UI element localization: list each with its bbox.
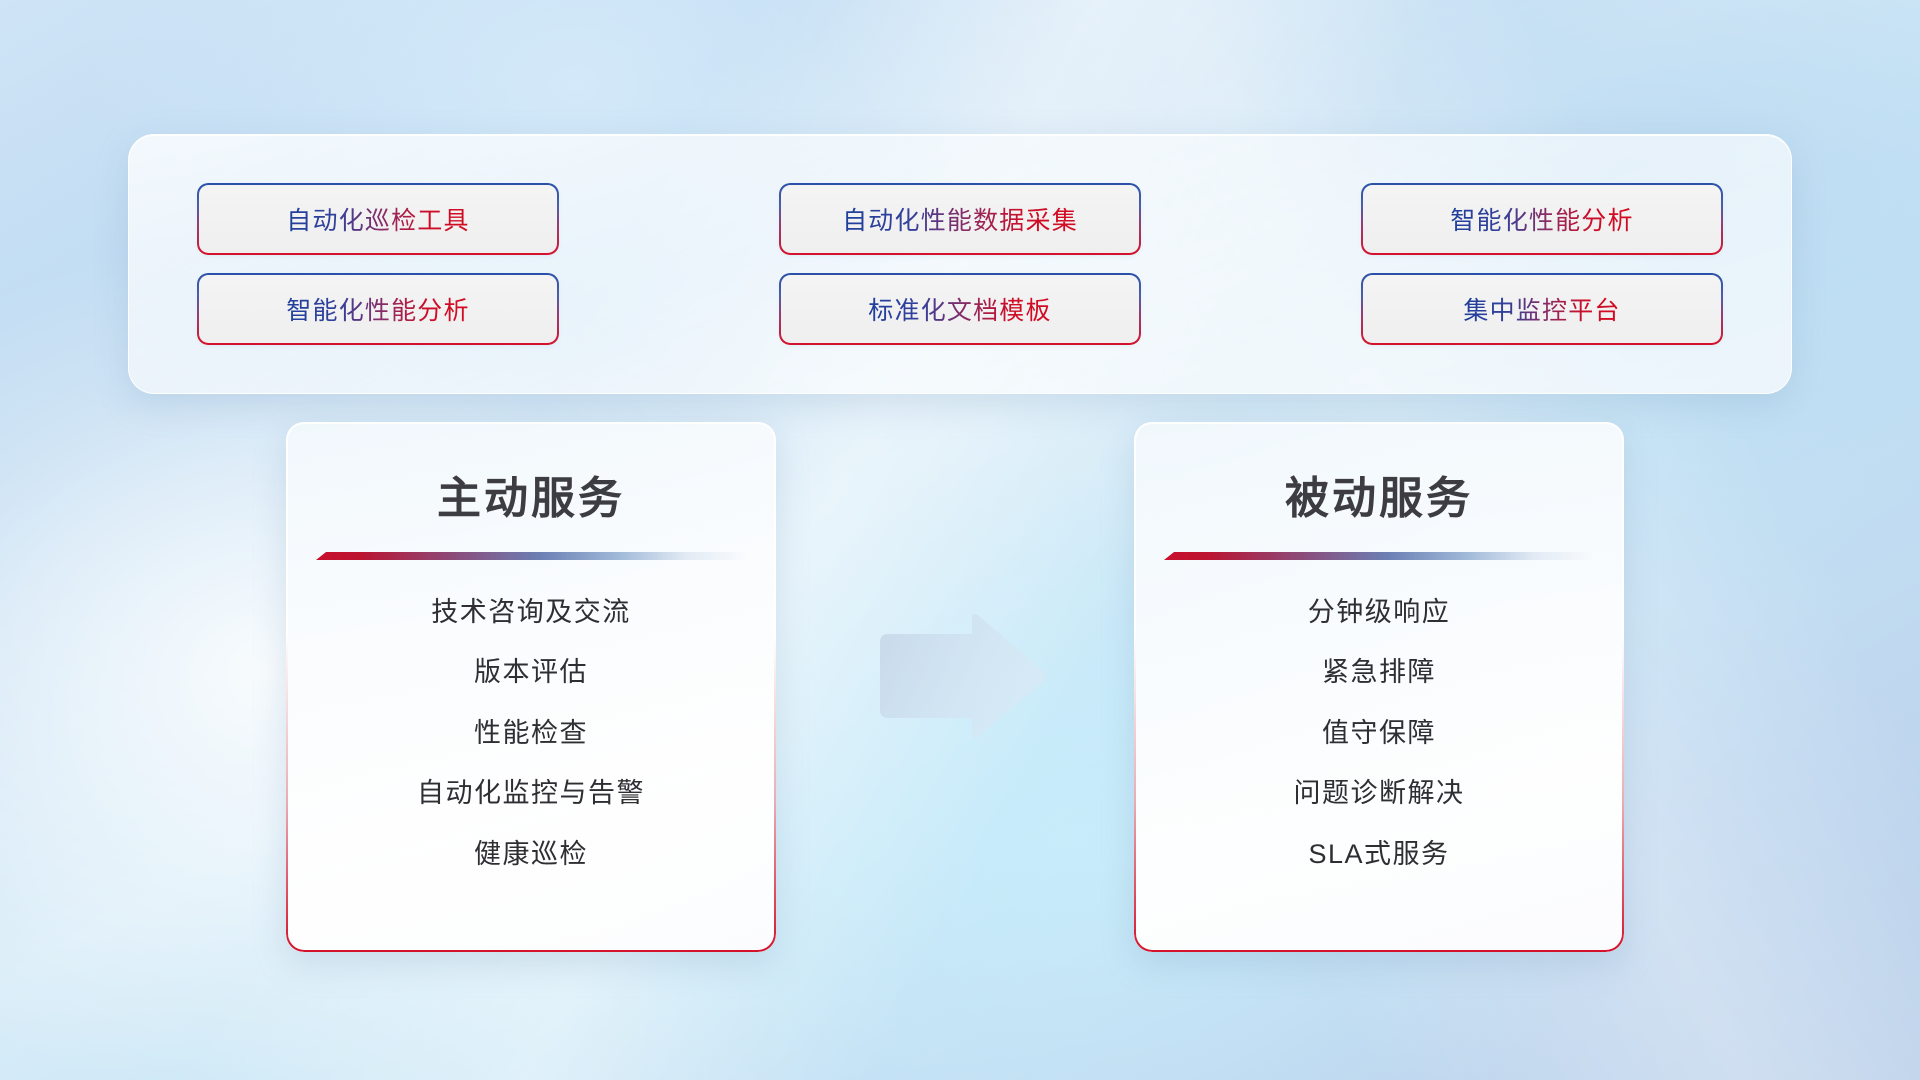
card-title: 主动服务 <box>286 462 776 526</box>
capability-chip-label: 自动化性能数据采集 <box>842 201 1078 237</box>
right-arrow-icon <box>874 612 1048 740</box>
list-item: 版本评估 <box>474 656 588 688</box>
capability-chip[interactable]: 智能化性能分析 <box>1363 185 1721 253</box>
list-item: 问题诊断解决 <box>1294 777 1465 809</box>
list-item: 自动化监控与告警 <box>417 777 645 809</box>
card-title: 被动服务 <box>1134 462 1624 526</box>
diagram-canvas: 自动化巡检工具 自动化性能数据采集 智能化性能分析 智能化性能分析 标准化文档模… <box>0 0 1920 1080</box>
list-item: 紧急排障 <box>1322 656 1436 688</box>
card-item-list: 分钟级响应 紧急排障 值守保障 问题诊断解决 SLA式服务 <box>1134 596 1624 870</box>
list-item: 分钟级响应 <box>1308 596 1451 628</box>
capability-chip-label: 标准化文档模板 <box>868 291 1051 327</box>
capability-chip[interactable]: 标准化文档模板 <box>781 275 1139 343</box>
capability-chip-label: 集中监控平台 <box>1463 291 1620 327</box>
capability-chip[interactable]: 自动化性能数据采集 <box>781 185 1139 253</box>
card-divider <box>316 552 746 560</box>
capability-row-2: 智能化性能分析 标准化文档模板 集中监控平台 <box>199 275 1721 343</box>
card-divider-bar <box>316 552 746 560</box>
capability-chip-label: 智能化性能分析 <box>286 291 469 327</box>
capability-chip[interactable]: 智能化性能分析 <box>199 275 557 343</box>
list-item: 技术咨询及交流 <box>431 596 631 628</box>
capability-chip-label: 自动化巡检工具 <box>286 201 469 237</box>
capability-chip[interactable]: 自动化巡检工具 <box>199 185 557 253</box>
capability-chip[interactable]: 集中监控平台 <box>1363 275 1721 343</box>
service-card-proactive: 主动服务 技术咨询及交流 版本评估 性能检查 自动化监控与告警 健康巡检 <box>286 422 776 952</box>
card-item-list: 技术咨询及交流 版本评估 性能检查 自动化监控与告警 健康巡检 <box>286 596 776 870</box>
capability-chip-label: 智能化性能分析 <box>1450 201 1633 237</box>
capability-row-1: 自动化巡检工具 自动化性能数据采集 智能化性能分析 <box>199 185 1721 253</box>
list-item: SLA式服务 <box>1308 838 1449 870</box>
list-item: 性能检查 <box>474 717 588 749</box>
card-divider <box>1164 552 1594 560</box>
list-item: 健康巡检 <box>474 838 588 870</box>
card-divider-bar <box>1164 552 1594 560</box>
service-card-reactive: 被动服务 分钟级响应 紧急排障 值守保障 问题诊断解决 SLA式服务 <box>1134 422 1624 952</box>
capabilities-panel: 自动化巡检工具 自动化性能数据采集 智能化性能分析 智能化性能分析 标准化文档模… <box>128 134 1792 394</box>
list-item: 值守保障 <box>1322 717 1436 749</box>
